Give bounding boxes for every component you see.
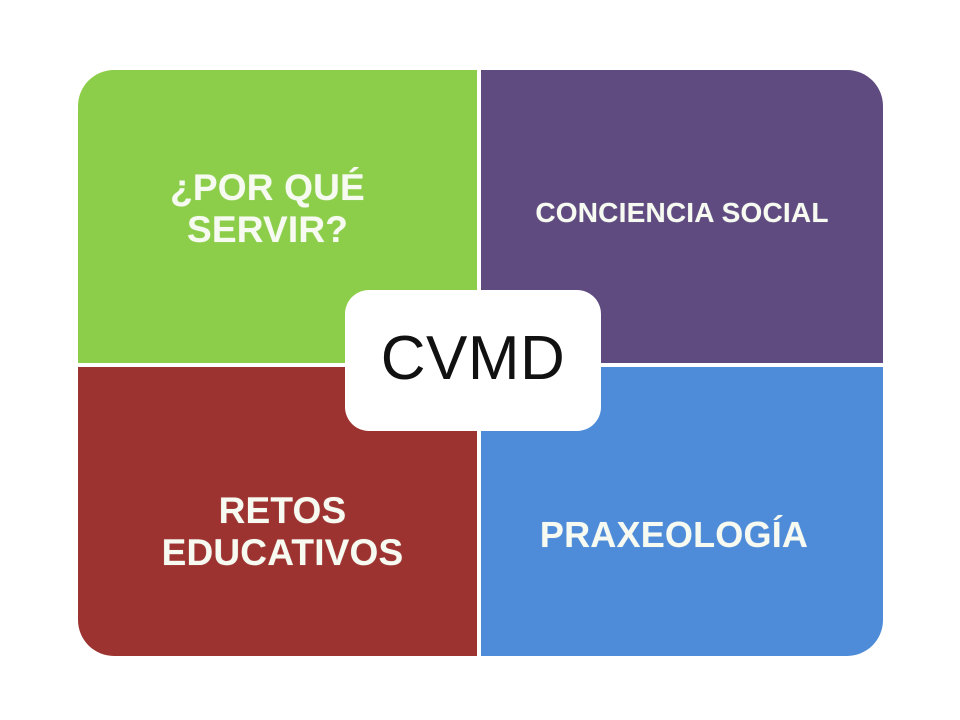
quadrant-why-serve-label: ¿POR QUÉ SERVIR? <box>160 167 375 250</box>
quadrant-social-conscience-label: CONCIENCIA SOCIAL <box>525 197 838 228</box>
quadrant-praxeology-label: PRAXEOLOGÍA <box>530 515 818 555</box>
slide-canvas: ¿POR QUÉ SERVIR? CONCIENCIA SOCIAL RETOS… <box>0 0 960 720</box>
center-badge-label: CVMD <box>381 328 566 390</box>
quadrant-educational-challenges-label: RETOS EDUCATIVOS <box>152 490 414 573</box>
center-badge[interactable]: CVMD <box>345 290 601 431</box>
